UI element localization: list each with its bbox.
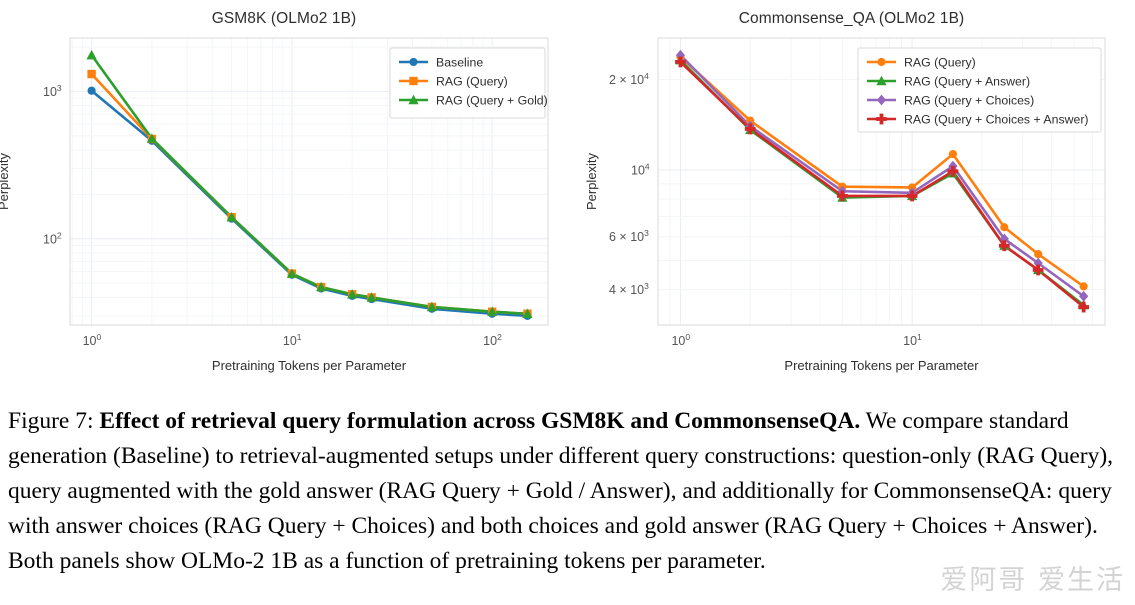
svg-text:103: 103 bbox=[43, 83, 62, 99]
chart-svg-commonsenseqa: 1001012 × 1041046 × 1034 × 103Pretrainin… bbox=[568, 0, 1135, 400]
svg-text:RAG (Query): RAG (Query) bbox=[904, 55, 976, 69]
svg-text:Pretraining Tokens per Paramet: Pretraining Tokens per Parameter bbox=[784, 358, 979, 373]
svg-text:6 × 103: 6 × 103 bbox=[609, 228, 649, 244]
svg-text:Perplexity: Perplexity bbox=[584, 152, 599, 210]
svg-text:102: 102 bbox=[43, 230, 62, 246]
svg-text:104: 104 bbox=[631, 162, 650, 178]
caption-prefix: Figure 7: bbox=[8, 408, 94, 434]
svg-text:4 × 103: 4 × 103 bbox=[609, 281, 649, 297]
svg-text:100: 100 bbox=[671, 332, 690, 348]
svg-text:100: 100 bbox=[83, 332, 102, 348]
svg-text:Perplexity: Perplexity bbox=[0, 152, 11, 210]
svg-text:101: 101 bbox=[903, 332, 922, 348]
svg-text:RAG (Query + Choices + Answer): RAG (Query + Choices + Answer) bbox=[904, 112, 1089, 126]
chart-panel-gsm8k: GSM8K (OLMo2 1B) 100101102103102Pretrain… bbox=[0, 0, 568, 400]
caption-bold: Effect of retrieval query formulation ac… bbox=[99, 408, 860, 434]
svg-text:RAG (Query): RAG (Query) bbox=[436, 74, 508, 88]
chart-panel-commonsenseqa: Commonsense_QA (OLMo2 1B) 1001012 × 1041… bbox=[568, 0, 1135, 400]
figure-caption: Figure 7: Effect of retrieval query form… bbox=[8, 404, 1130, 579]
svg-text:102: 102 bbox=[483, 332, 502, 348]
svg-text:RAG (Query + Gold): RAG (Query + Gold) bbox=[436, 93, 548, 107]
svg-text:Pretraining Tokens per Paramet: Pretraining Tokens per Parameter bbox=[212, 358, 407, 373]
svg-text:RAG (Query + Answer): RAG (Query + Answer) bbox=[904, 74, 1030, 88]
svg-text:101: 101 bbox=[283, 332, 302, 348]
chart-svg-gsm8k: 100101102103102Pretraining Tokens per Pa… bbox=[0, 0, 568, 400]
svg-text:2 × 104: 2 × 104 bbox=[609, 71, 649, 87]
svg-text:Baseline: Baseline bbox=[436, 55, 483, 69]
svg-text:RAG (Query + Choices): RAG (Query + Choices) bbox=[904, 93, 1034, 107]
figure-panels: GSM8K (OLMo2 1B) 100101102103102Pretrain… bbox=[0, 0, 1135, 400]
